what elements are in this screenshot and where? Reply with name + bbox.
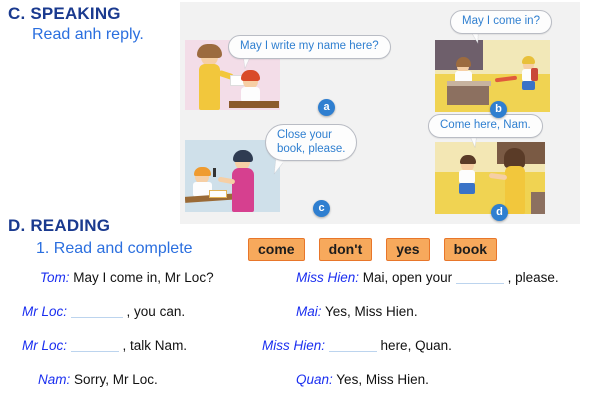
speech-bubble-b: May I come in? [450, 10, 552, 34]
dialogue-line: Miss Hien: Mai, open your , please. [296, 270, 559, 285]
reading-section-heading: D. READING [8, 216, 110, 236]
speaker-label: Tom: [40, 270, 70, 285]
dialogue-line: Tom: May I come in, Mr Loc? [40, 270, 214, 285]
speaker-label: Miss Hien: [296, 270, 359, 285]
speech-bubble-a: May I write my name here? [228, 35, 391, 59]
teacher-a-dress [199, 64, 220, 110]
scene-panel-c [185, 140, 280, 212]
dialogue-text: Yes, Miss Hien. [336, 372, 429, 387]
scene-panel-d [435, 142, 545, 214]
desk-a [229, 101, 279, 108]
worksheet-page: C. SPEAKING Read anh reply. [0, 0, 600, 408]
teacher-d-aodai [505, 166, 525, 214]
boy-b-shorts [522, 81, 535, 90]
desk-b-top [447, 81, 491, 86]
boy-c-hair [194, 167, 211, 176]
panel-badge-b: b [490, 101, 507, 118]
boy-b-bag [531, 68, 538, 81]
dialogue-row: Mr Loc: , you can. Mai: Yes, Miss Hien. [0, 300, 600, 334]
speaker-label: Quan: [296, 372, 333, 387]
teacher-d-hair [504, 148, 525, 168]
dialogue-text: , please. [508, 270, 559, 285]
teacher-c-hair [233, 150, 253, 162]
desk-b [447, 83, 489, 105]
dialogue-text: Sorry, Mr Loc. [74, 372, 158, 387]
dialogue-text: Yes, Miss Hien. [325, 304, 418, 319]
speaking-section-heading: C. SPEAKING [8, 4, 121, 24]
dialogue-text: May I come in, Mr Loc? [73, 270, 213, 285]
reading-section-subheading: 1. Read and complete [36, 240, 193, 258]
boy-b-hair [522, 56, 535, 64]
dialogue-text: Mai, open your [363, 270, 452, 285]
dialogue-list: Tom: May I come in, Mr Loc? Miss Hien: M… [0, 266, 600, 402]
speaker-label: Miss Hien: [262, 338, 325, 353]
dialogue-text: here, Quan. [381, 338, 452, 353]
word-bank: come don't yes book [248, 238, 497, 261]
dialogue-line: Miss Hien: here, Quan. [262, 338, 452, 353]
dialogue-line: Nam: Sorry, Mr Loc. [38, 372, 158, 387]
dialogue-text: , you can. [127, 304, 186, 319]
dialogue-row: Mr Loc: , talk Nam. Miss Hien: here, Qua… [0, 334, 600, 368]
speaking-section-subheading: Read anh reply. [32, 26, 144, 44]
dialogue-line: Mr Loc: , talk Nam. [22, 338, 187, 353]
desk-d [531, 192, 545, 214]
teacher-a-hair [197, 44, 222, 58]
teacher-b-hair [456, 57, 471, 67]
answer-blank[interactable] [329, 339, 377, 352]
dialogue-line: Mai: Yes, Miss Hien. [296, 304, 418, 319]
speaker-label: Mr Loc: [22, 338, 67, 353]
panel-badge-a: a [318, 99, 335, 116]
boy-d-shirt [459, 170, 475, 184]
dialogue-row: Tom: May I come in, Mr Loc? Miss Hien: M… [0, 266, 600, 300]
student-a-hair [241, 70, 260, 81]
floor-d [435, 172, 545, 214]
word-chip-yes[interactable]: yes [386, 238, 429, 261]
teacher-c-aodai [232, 168, 254, 212]
speech-bubble-d: Come here, Nam. [428, 114, 543, 138]
speaker-label: Mr Loc: [22, 304, 67, 319]
dialogue-line: Quan: Yes, Miss Hien. [296, 372, 429, 387]
boy-d-hair [460, 155, 476, 164]
word-chip-dont[interactable]: don't [319, 238, 373, 261]
answer-blank[interactable] [456, 271, 504, 284]
word-chip-book[interactable]: book [444, 238, 497, 261]
dialogue-text: , talk Nam. [123, 338, 188, 353]
answer-blank[interactable] [71, 339, 119, 352]
word-chip-come[interactable]: come [248, 238, 305, 261]
speech-bubble-c: Close your book, please. [265, 124, 357, 161]
scene-panel-b [435, 40, 550, 112]
illustration-block: May I write my name here? May I come in?… [180, 2, 580, 224]
panel-badge-d: d [491, 204, 508, 221]
label-one-c [213, 168, 216, 177]
dialogue-line: Mr Loc: , you can. [22, 304, 185, 319]
dialogue-row: Nam: Sorry, Mr Loc. Quan: Yes, Miss Hien… [0, 368, 600, 402]
speaker-label: Mai: [296, 304, 322, 319]
boy-d-shorts [459, 183, 475, 194]
book-c [209, 190, 227, 198]
speaker-label: Nam: [38, 372, 70, 387]
panel-badge-c: c [313, 200, 330, 217]
answer-blank[interactable] [71, 305, 123, 318]
